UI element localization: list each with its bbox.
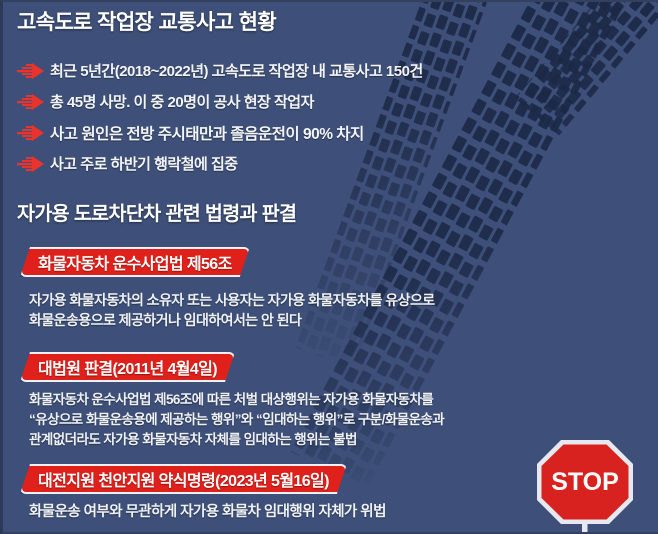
law-body-line: 자가용 화물자동차의 소유자 또는 사용자는 자가용 화물자동차를 유상으로 [29, 290, 649, 310]
law-body-line: 화물자동차 운수사업법 제56조에 따른 처벌 대상행위는 자가용 화물자동차를 [29, 390, 649, 410]
list-item: 총 45명 사망. 이 중 20명이 공사 현장 작업자 [16, 88, 656, 115]
accident-stats-list: 최근 5년간(2018~2022년) 고속도로 작업장 내 교통사고 150건 … [16, 57, 656, 181]
law-badge-statute: 화물자동차 운수사업법 제56조 [20, 247, 250, 277]
red-motion-arrow-icon [16, 94, 44, 110]
list-item: 사고 주로 하반기 행락철에 집중 [16, 150, 656, 177]
infographic-poster: 고속도로 작업장 교통사고 현황 최근 5년간(2018~2022년) 고속도로… [0, 0, 658, 534]
list-item-label: 총 45명 사망. 이 중 20명이 공사 현장 작업자 [50, 91, 314, 112]
law-badge-summary-order: 대전지원 천안지원 약식명령(2023년 5월16일) [20, 464, 347, 494]
list-item-label: 사고 주로 하반기 행락철에 집중 [50, 153, 238, 174]
red-motion-arrow-icon [16, 125, 44, 141]
law-body-line: “유상으로 화물운송용에 제공하는 행위”와 “임대하는 행위”로 구분/화물운… [29, 410, 649, 430]
list-item-label: 최근 5년간(2018~2022년) 고속도로 작업장 내 교통사고 150건 [50, 60, 423, 81]
page-title: 고속도로 작업장 교통사고 현황 [17, 10, 276, 36]
red-motion-arrow-icon [16, 63, 44, 79]
section-title-law: 자가용 도로차단차 관련 법령과 판결 [17, 202, 296, 226]
stop-sign-icon: STOP [529, 434, 641, 534]
list-item-label: 사고 원인은 전방 주시태만과 졸음운전이 90% 차지 [50, 122, 364, 144]
law-badge-supreme-court: 대법원 판결(2011년 4월4일) [20, 352, 235, 382]
law-body-line: 화물운송용으로 제공하거나 임대하여서는 안 된다 [29, 310, 649, 330]
list-item: 최근 5년간(2018~2022년) 고속도로 작업장 내 교통사고 150건 [16, 57, 656, 84]
list-item: 사고 원인은 전방 주시태만과 졸음운전이 90% 차지 [16, 119, 656, 146]
red-motion-arrow-icon [16, 156, 44, 172]
stop-sign-label: STOP [551, 468, 619, 496]
law-body-statute: 자가용 화물자동차의 소유자 또는 사용자는 자가용 화물자동차를 유상으로 화… [29, 290, 649, 330]
